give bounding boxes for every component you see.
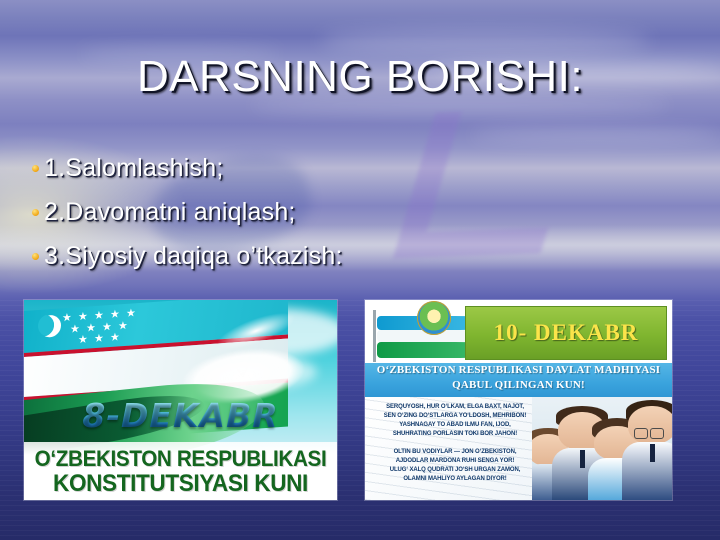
constitution-day-image: ★★ ★★ ★ ★★ ★★ ★★ ★ 8-DEKABR O‘ZBEKISTON … (24, 300, 337, 500)
presentation-slide: DARSNING BORISHI: 1.Salomlashish; 2.Davo… (0, 0, 720, 540)
right-poster-date-banner: 10- DEKABR (465, 306, 667, 360)
bullet-dot-icon (26, 253, 44, 260)
anthem-line: OLAMNI MAHLIYO AYLAGAN DIYOR! (371, 475, 539, 484)
anthem-lyrics: SERQUYOSH, HUR O‘LKAM, ELGA BAXT, NAJOT,… (371, 403, 539, 484)
crescent-moon-icon (32, 314, 54, 338)
bullet-dot-icon (26, 209, 44, 216)
cloud-streak-icon (320, 28, 650, 54)
anthem-line: AJDODLAR MARDONA RUHI SENGA YOR! (371, 457, 539, 466)
right-poster-date-label: 10- DEKABR (466, 307, 666, 359)
child-figure (628, 404, 672, 500)
anthem-line: SERQUYOSH, HUR O‘LKAM, ELGA BAXT, NAJOT, (371, 403, 539, 412)
left-poster-caption-line2: KONSTITUTSIYASI KUNI (33, 470, 327, 498)
right-poster-band-line2: QABUL QILINGAN KUN! (365, 379, 672, 391)
list-item: 1.Salomlashish; (26, 146, 586, 190)
anthem-line: ULUG‘ XALQ QUDRATI JO‘SH URGAN ZAMON, (371, 466, 539, 475)
eyeglasses-icon (634, 428, 664, 437)
flag-pole-icon (373, 310, 376, 362)
bullet-item-label: 1.Salomlashish; (44, 154, 223, 183)
anthem-day-image: 10- DEKABR O‘ZBEKISTON RESPUBLIKASI DAVL… (365, 300, 672, 500)
anthem-line: YASHNAGAY TO ABAD ILMU FAN, IJOD, (371, 421, 539, 430)
state-emblem-icon (417, 301, 451, 335)
list-item: 2.Davomatni aniqlash; (26, 190, 586, 234)
list-item: 3.Siyosiy daqiqa o’tkazish: (26, 234, 586, 278)
left-poster-date-label: 8-DEKABR (24, 396, 337, 435)
schoolchildren-photo (532, 397, 672, 500)
bullet-item-label: 2.Davomatni aniqlash; (44, 198, 296, 227)
bullet-list: 1.Salomlashish; 2.Davomatni aniqlash; 3.… (26, 146, 586, 278)
anthem-line: SHUHRATING PORLASIN TOKI BOR JAHON! (371, 430, 539, 439)
bullet-dot-icon (26, 165, 44, 172)
bullet-item-label: 3.Siyosiy daqiqa o’tkazish: (44, 242, 343, 271)
right-poster-header: 10- DEKABR (365, 300, 672, 363)
slide-title: DARSNING BORISHI: (0, 52, 720, 102)
anthem-line: OLTIN BU VODIYLAR — JON O‘ZBEKISTON, (371, 448, 539, 457)
left-poster-caption-line1: O‘ZBEKISTON RESPUBLIKASI (33, 446, 327, 472)
right-poster-band-line1: O‘ZBEKISTON RESPUBLIKASI DAVLAT MADHIYAS… (365, 364, 672, 376)
anthem-line: SEN O‘ZING DO‘STLARGA YO‘LDOSH, MEHRIBON… (371, 412, 539, 421)
